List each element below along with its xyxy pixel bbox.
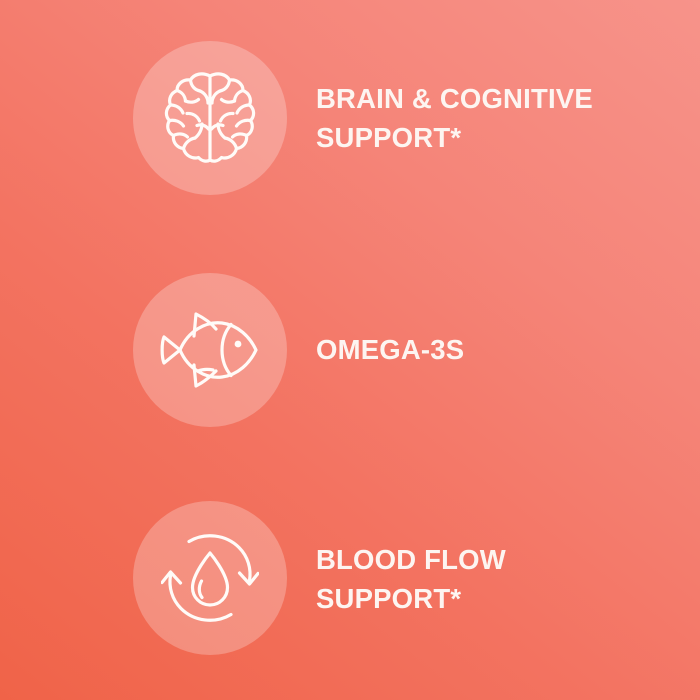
benefit-label-bloodflow: BLOOD FLOW SUPPORT* [316, 540, 686, 618]
benefit-row-omega: OMEGA-3S [0, 270, 700, 430]
benefit-label-omega: OMEGA-3S [316, 330, 686, 369]
benefit-row-bloodflow: BLOOD FLOW SUPPORT* [0, 498, 700, 658]
benefits-infographic: BRAIN & COGNITIVE SUPPORT* [0, 0, 700, 700]
icon-circle-bloodflow [133, 501, 287, 655]
icon-circle-omega [133, 273, 287, 427]
benefit-row-brain: BRAIN & COGNITIVE SUPPORT* [0, 38, 700, 198]
icon-circle-brain [133, 41, 287, 195]
brain-icon [164, 70, 256, 166]
blood-drop-circulation-icon [161, 529, 259, 627]
benefit-label-brain: BRAIN & COGNITIVE SUPPORT* [316, 79, 686, 157]
fish-icon [158, 309, 262, 391]
